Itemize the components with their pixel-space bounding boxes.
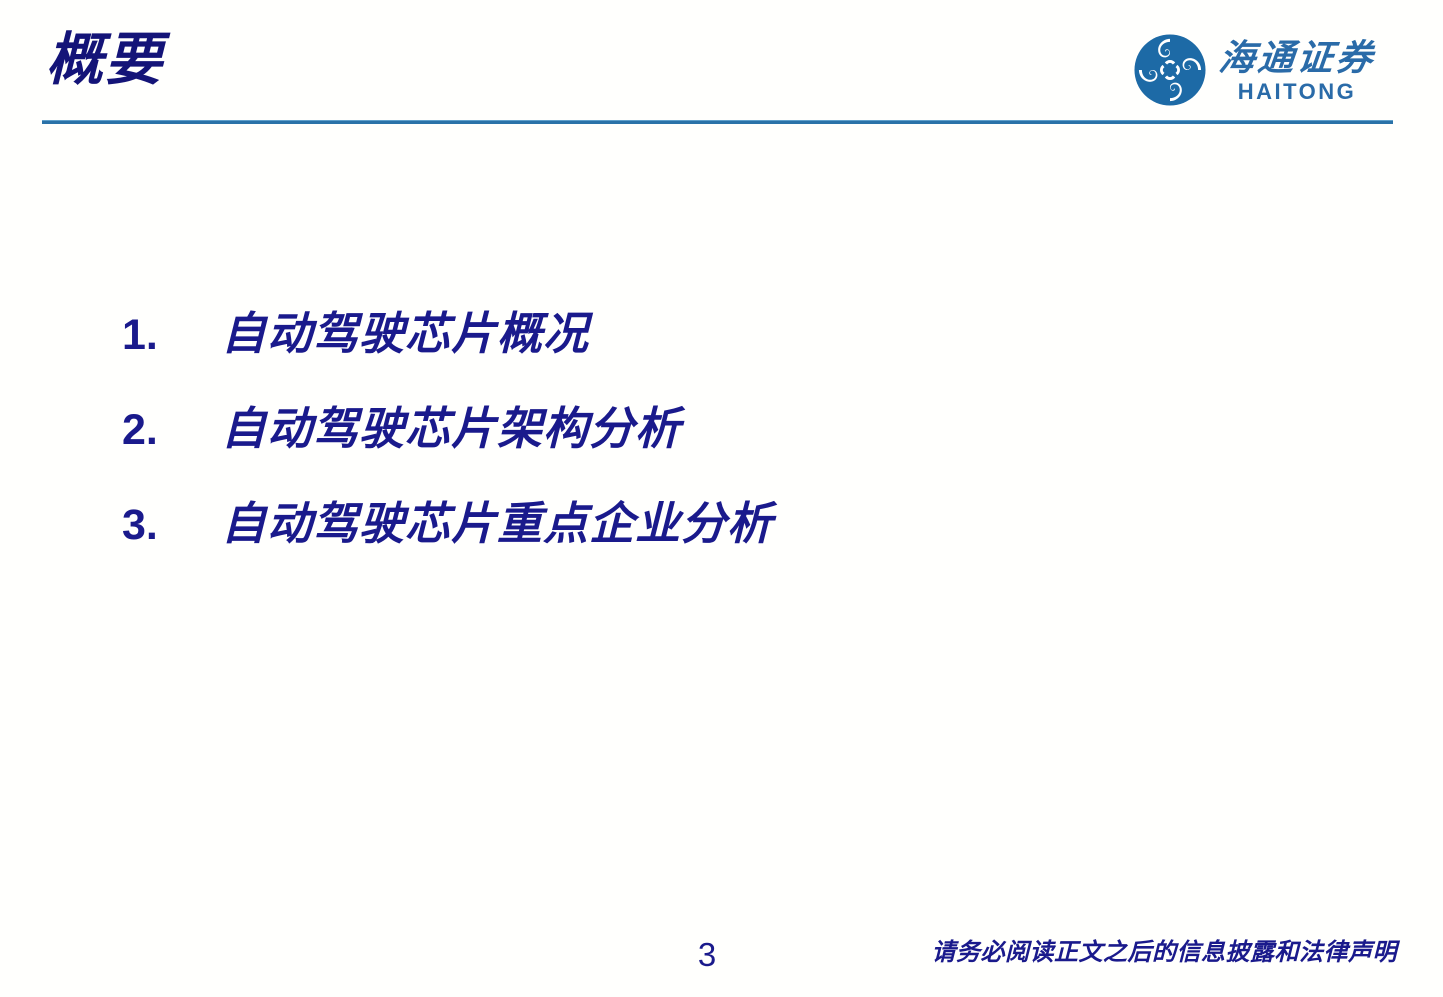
page-number: 3	[686, 938, 728, 971]
agenda-item-1[interactable]: 1. 自动驾驶芯片概况	[0, 302, 1443, 397]
footer-disclaimer: 请务必阅读正文之后的信息披露和法律声明	[932, 940, 1398, 964]
brand-wordmark: 海通证券 HAITONG	[1219, 38, 1375, 103]
brand-name-cn: 海通证券	[1217, 40, 1377, 76]
title-divider-rule	[42, 120, 1393, 124]
page-title: 概要	[46, 28, 164, 92]
haitong-logo: 海通证券 HAITONG	[1133, 30, 1401, 110]
brand-name-en: HAITONG	[1238, 81, 1357, 103]
agenda-item-label: 自动驾驶芯片概况	[221, 310, 589, 359]
agenda-item-label: 自动驾驶芯片架构分析	[221, 405, 681, 454]
presentation-slide: 概要 海通证券 HAITONG 1. 自动驾驶芯片概况	[0, 0, 1443, 997]
agenda-list: 1. 自动驾驶芯片概况 2. 自动驾驶芯片架构分析 3. 自动驾驶芯片重点企业分…	[0, 302, 1443, 587]
haitong-swirl-emblem-icon	[1133, 33, 1207, 107]
agenda-item-number: 3.	[122, 504, 192, 547]
agenda-item-number: 1.	[122, 314, 192, 357]
agenda-item-3[interactable]: 3. 自动驾驶芯片重点企业分析	[0, 492, 1443, 587]
agenda-item-2[interactable]: 2. 自动驾驶芯片架构分析	[0, 397, 1443, 492]
agenda-item-number: 2.	[122, 409, 192, 452]
agenda-item-label: 自动驾驶芯片重点企业分析	[221, 500, 773, 549]
